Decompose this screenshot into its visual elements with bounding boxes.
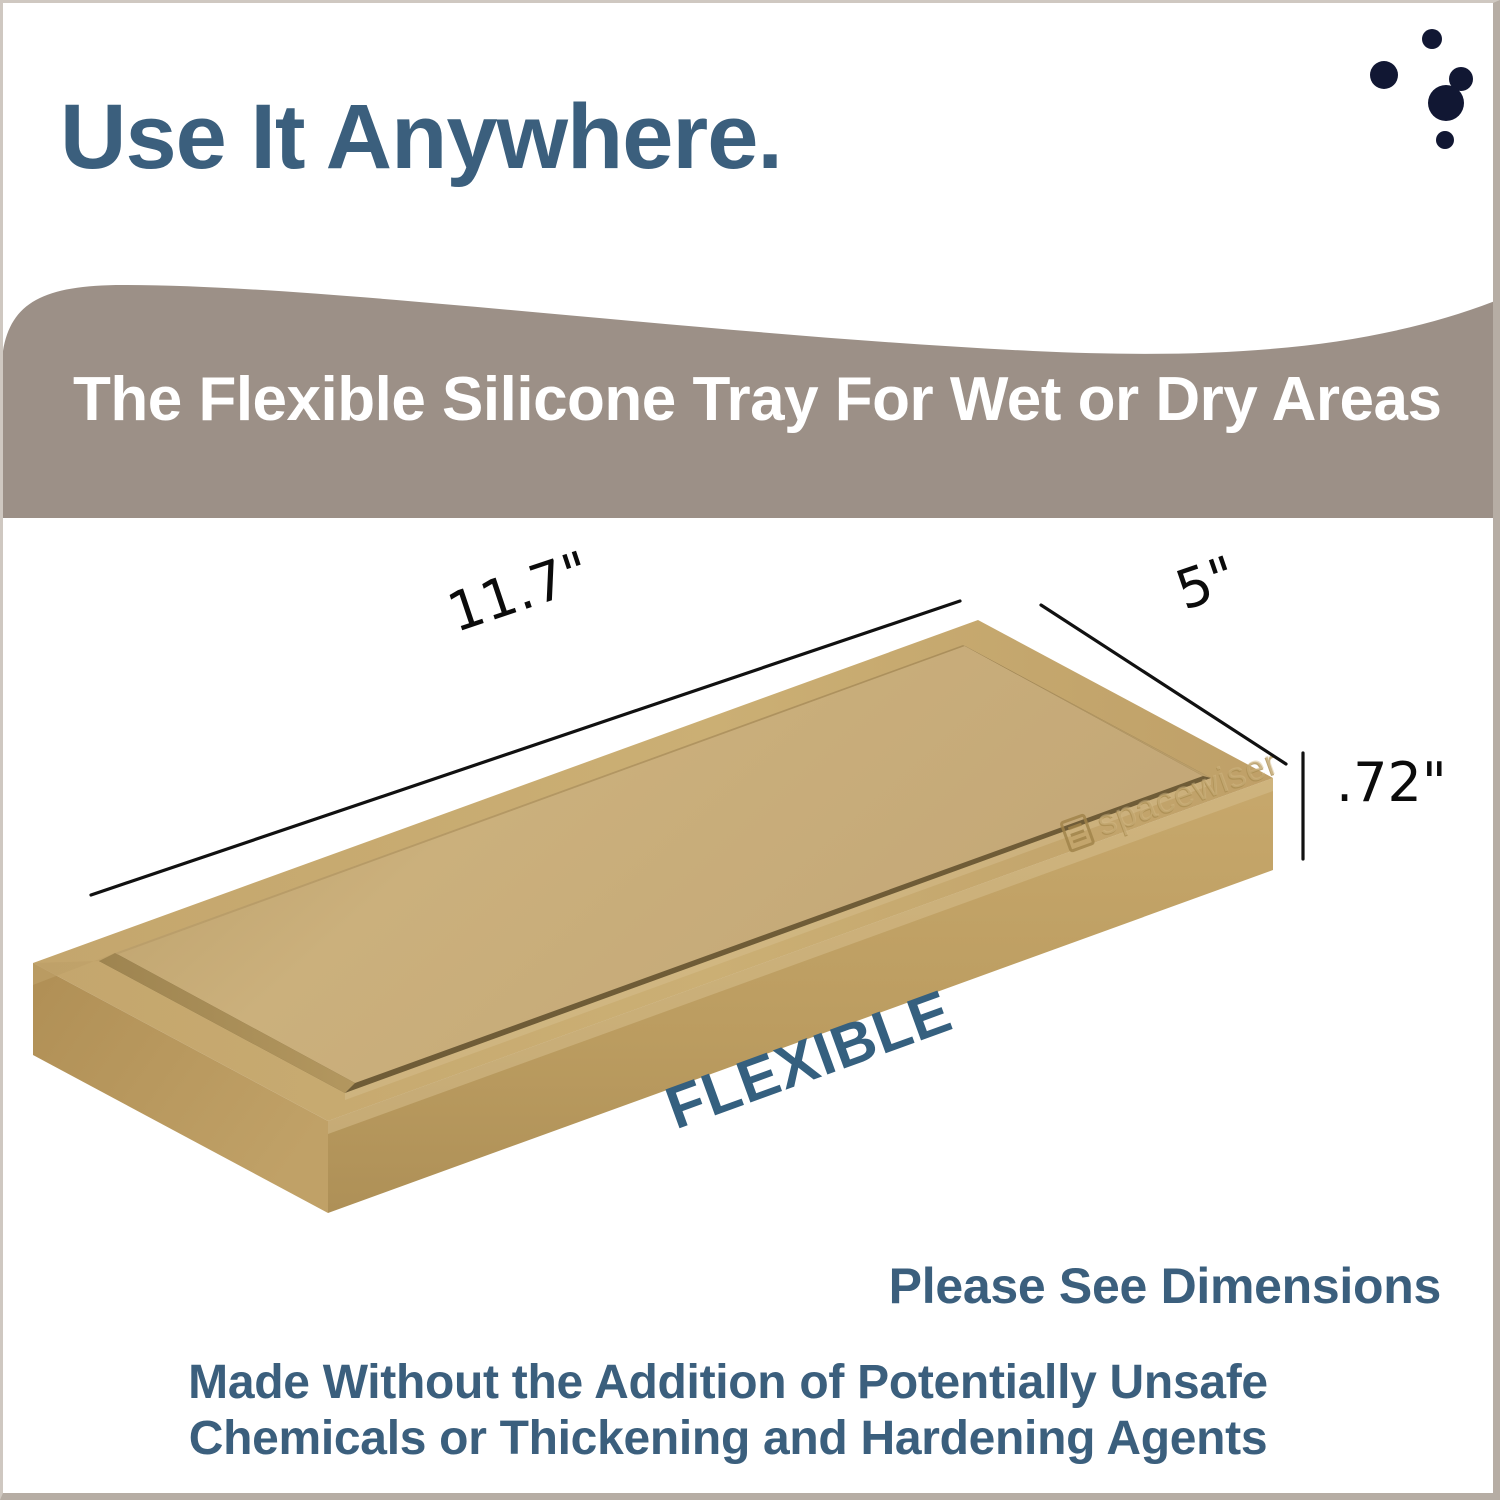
decorative-dot-4 — [1428, 85, 1464, 121]
safety-disclaimer: Made Without the Addition of Potentially… — [3, 1355, 1453, 1467]
product-scene: spacewiser spacewiser 11.7" 5" .72" FLEX… — [3, 523, 1500, 1263]
see-dimensions-note: Please See Dimensions — [889, 1257, 1441, 1315]
tray-body — [33, 620, 1273, 1213]
silicone-tray-illustration: spacewiser spacewiser — [3, 523, 1500, 1263]
subtitle-banner: The Flexible Silicone Tray For Wet or Dr… — [3, 273, 1500, 518]
decorative-dot-5 — [1436, 131, 1454, 149]
disclaimer-line-1: Made Without the Addition of Potentially… — [3, 1355, 1453, 1411]
dimension-label-height: .72" — [1336, 751, 1447, 814]
decorative-dot-1 — [1422, 29, 1442, 49]
decorative-dot-2 — [1370, 61, 1398, 89]
page-title: Use It Anywhere. — [60, 91, 782, 183]
disclaimer-line-2: Chemicals or Thickening and Hardening Ag… — [3, 1411, 1453, 1467]
infographic-page: Use It Anywhere. The Flexible Silicone T… — [0, 0, 1500, 1500]
decorative-dots-cluster — [1343, 21, 1500, 186]
banner-subtitle: The Flexible Silicone Tray For Wet or Dr… — [73, 369, 1442, 431]
